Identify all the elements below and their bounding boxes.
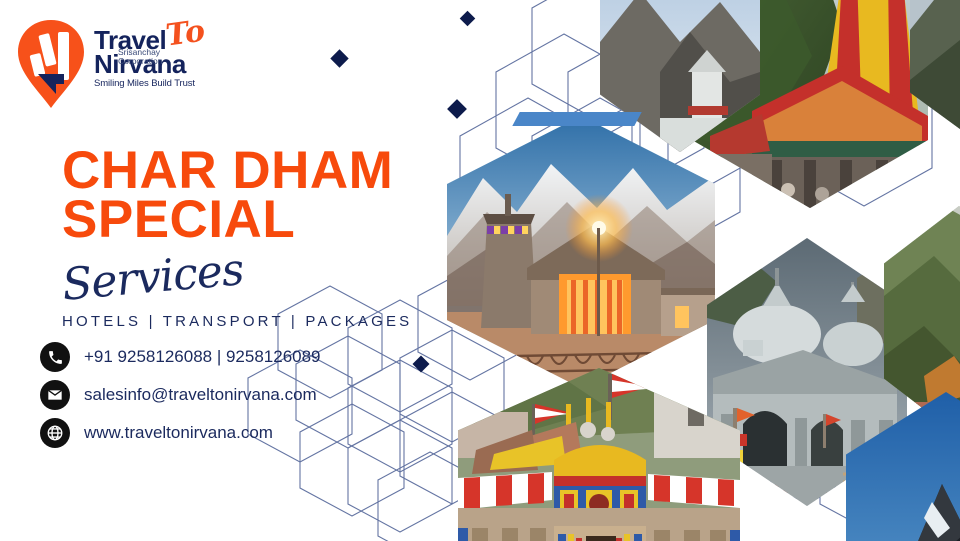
phone-number: +91 9258126088 | 9258126089 bbox=[84, 347, 321, 367]
corporation-name: Srisanchay Corporation bbox=[118, 48, 188, 66]
contact-block: +91 9258126088 | 9258126089 salesinfo@tr… bbox=[40, 338, 440, 452]
brand-tagline: Smiling Miles Build Trust bbox=[94, 78, 254, 89]
page-title: CHAR DHAM SPECIAL bbox=[62, 146, 462, 245]
email-icon bbox=[40, 380, 70, 410]
globe-icon bbox=[40, 418, 70, 448]
phone-icon bbox=[40, 342, 70, 372]
location-pin-logo-icon bbox=[14, 18, 88, 110]
headline-line2: SPECIAL bbox=[62, 195, 462, 244]
services-list: HOTELS | TRANSPORT | PACKAGES bbox=[62, 313, 412, 330]
corporation-line2: Corporation bbox=[118, 57, 188, 66]
badrinath-temple-photo bbox=[458, 368, 740, 541]
contact-row-website[interactable]: www.traveltonirvana.com bbox=[40, 414, 440, 452]
headline-script-word: Services bbox=[60, 244, 245, 311]
contact-row-phone[interactable]: +91 9258126088 | 9258126089 bbox=[40, 338, 440, 376]
content-column: Travel Nirvana Smiling Miles Build Trust… bbox=[0, 0, 470, 541]
contact-row-email[interactable]: salesinfo@traveltonirvana.com bbox=[40, 376, 440, 414]
website-url: www.traveltonirvana.com bbox=[84, 423, 273, 443]
brand-logo[interactable]: Travel Nirvana Smiling Miles Build Trust… bbox=[14, 18, 254, 110]
headline-line1: CHAR DHAM bbox=[62, 146, 462, 195]
char-dham-promo-banner: Travel Nirvana Smiling Miles Build Trust… bbox=[0, 0, 960, 541]
kedarnath-temple-photo bbox=[447, 116, 715, 388]
email-address: salesinfo@traveltonirvana.com bbox=[84, 385, 317, 405]
blue-accent-band bbox=[512, 112, 641, 126]
